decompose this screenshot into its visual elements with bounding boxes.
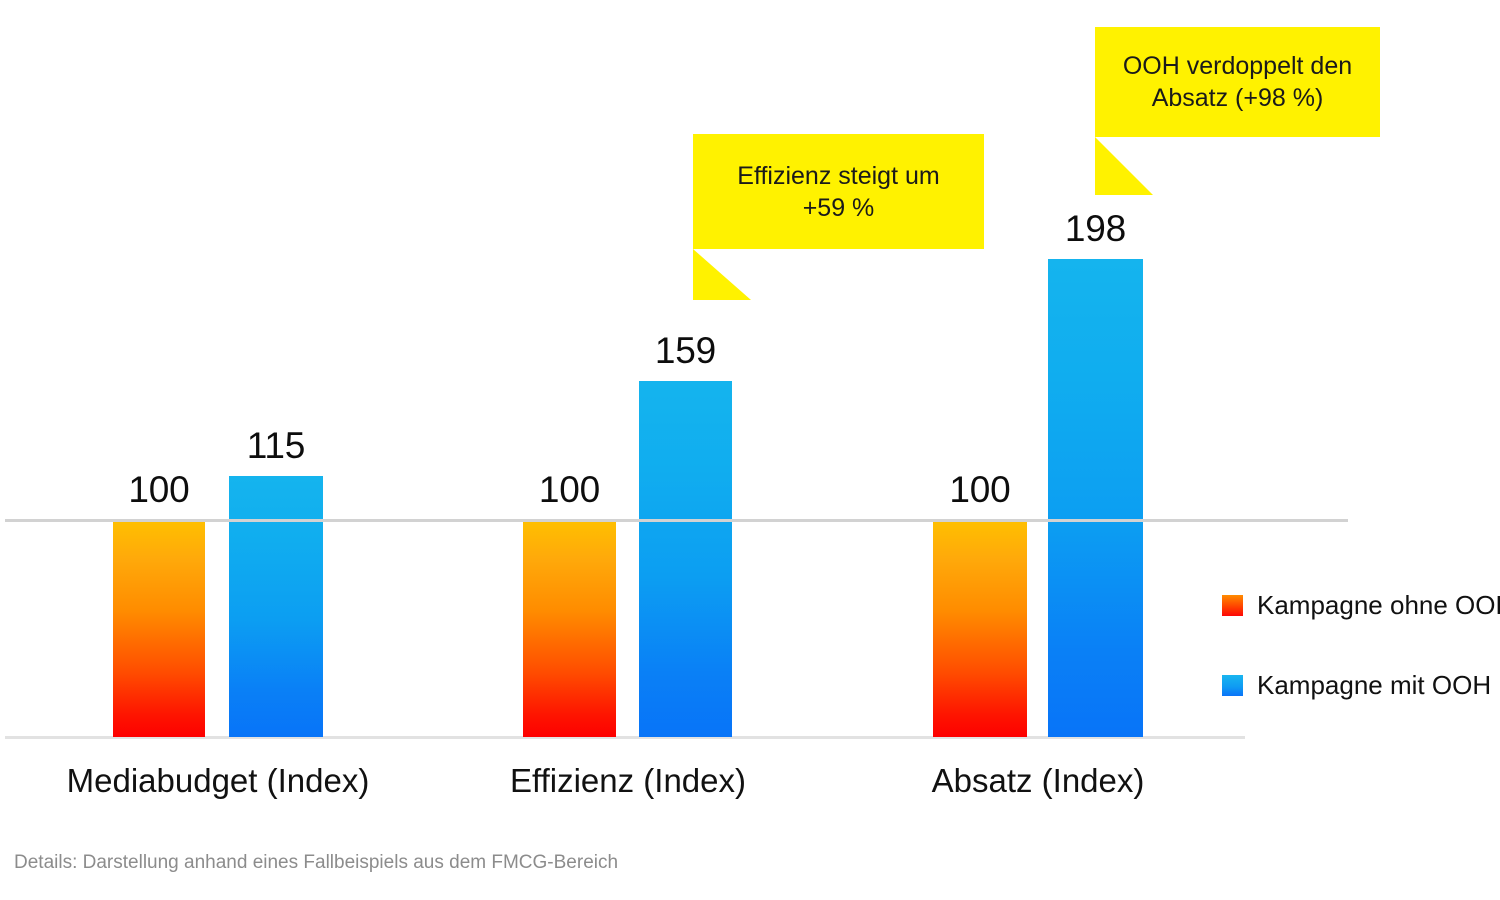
- category-label-effizienz: Effizienz (Index): [438, 762, 818, 800]
- callout-effizienz-line1: Effizienz steigt um: [737, 162, 939, 190]
- value-label-mediabudget-mit-ooh: 115: [229, 425, 323, 467]
- callout-effizienz-tail: [693, 249, 751, 300]
- chart-legend: Kampagne ohne OOH Kampagne mit OOH: [1222, 590, 1492, 700]
- value-label-mediabudget-ohne-ooh: 100: [113, 469, 205, 511]
- callout-absatz-line1: OOH verdoppelt den: [1123, 52, 1352, 80]
- callout-effizienz-line2: +59 %: [803, 194, 875, 222]
- bar-absatz-ohne-ooh: [933, 520, 1027, 737]
- value-label-effizienz-ohne-ooh: 100: [523, 469, 616, 511]
- callout-effizienz: Effizienz steigt um+59 %: [693, 134, 984, 300]
- legend-item-kampagne-mit-ooh[interactable]: Kampagne mit OOH: [1222, 670, 1491, 701]
- bar-effizienz-mit-ooh: [639, 381, 732, 737]
- bar-absatz-mit-ooh: [1048, 259, 1143, 737]
- category-label-absatz: Absatz (Index): [848, 762, 1228, 800]
- bar-effizienz-ohne-ooh: [523, 520, 616, 737]
- bar-mediabudget-ohne-ooh: [113, 520, 205, 737]
- legend-label-mit-ooh: Kampagne mit OOH: [1257, 670, 1491, 701]
- footnote-source: Details: Darstellung anhand eines Fallbe…: [14, 852, 618, 874]
- legend-label-ohne-ooh: Kampagne ohne OOH: [1257, 590, 1500, 621]
- callout-absatz: OOH verdoppelt denAbsatz (+98 %): [1095, 27, 1380, 195]
- bar-mediabudget-mit-ooh: [229, 476, 323, 737]
- value-label-effizienz-mit-ooh: 159: [639, 330, 732, 372]
- legend-item-kampagne-ohne-ooh[interactable]: Kampagne ohne OOH: [1222, 590, 1500, 621]
- callout-absatz-box: OOH verdoppelt denAbsatz (+98 %): [1095, 27, 1380, 137]
- callout-absatz-tail: [1095, 137, 1153, 195]
- callout-effizienz-text: Effizienz steigt um+59 %: [721, 160, 955, 224]
- chart-canvas: 100 115 Mediabudget (Index) 100 159 Effi…: [0, 0, 1500, 900]
- value-label-absatz-ohne-ooh: 100: [933, 469, 1027, 511]
- callout-absatz-line2: Absatz (+98 %): [1152, 84, 1324, 112]
- category-label-mediabudget: Mediabudget (Index): [28, 762, 408, 800]
- callout-absatz-text: OOH verdoppelt denAbsatz (+98 %): [1107, 50, 1368, 114]
- legend-swatch-icon-mit-ooh: [1222, 675, 1243, 696]
- legend-swatch-icon-ohne-ooh: [1222, 595, 1243, 616]
- gridline-index-100: [5, 519, 1348, 522]
- value-label-absatz-mit-ooh: 198: [1048, 208, 1143, 250]
- callout-effizienz-box: Effizienz steigt um+59 %: [693, 134, 984, 249]
